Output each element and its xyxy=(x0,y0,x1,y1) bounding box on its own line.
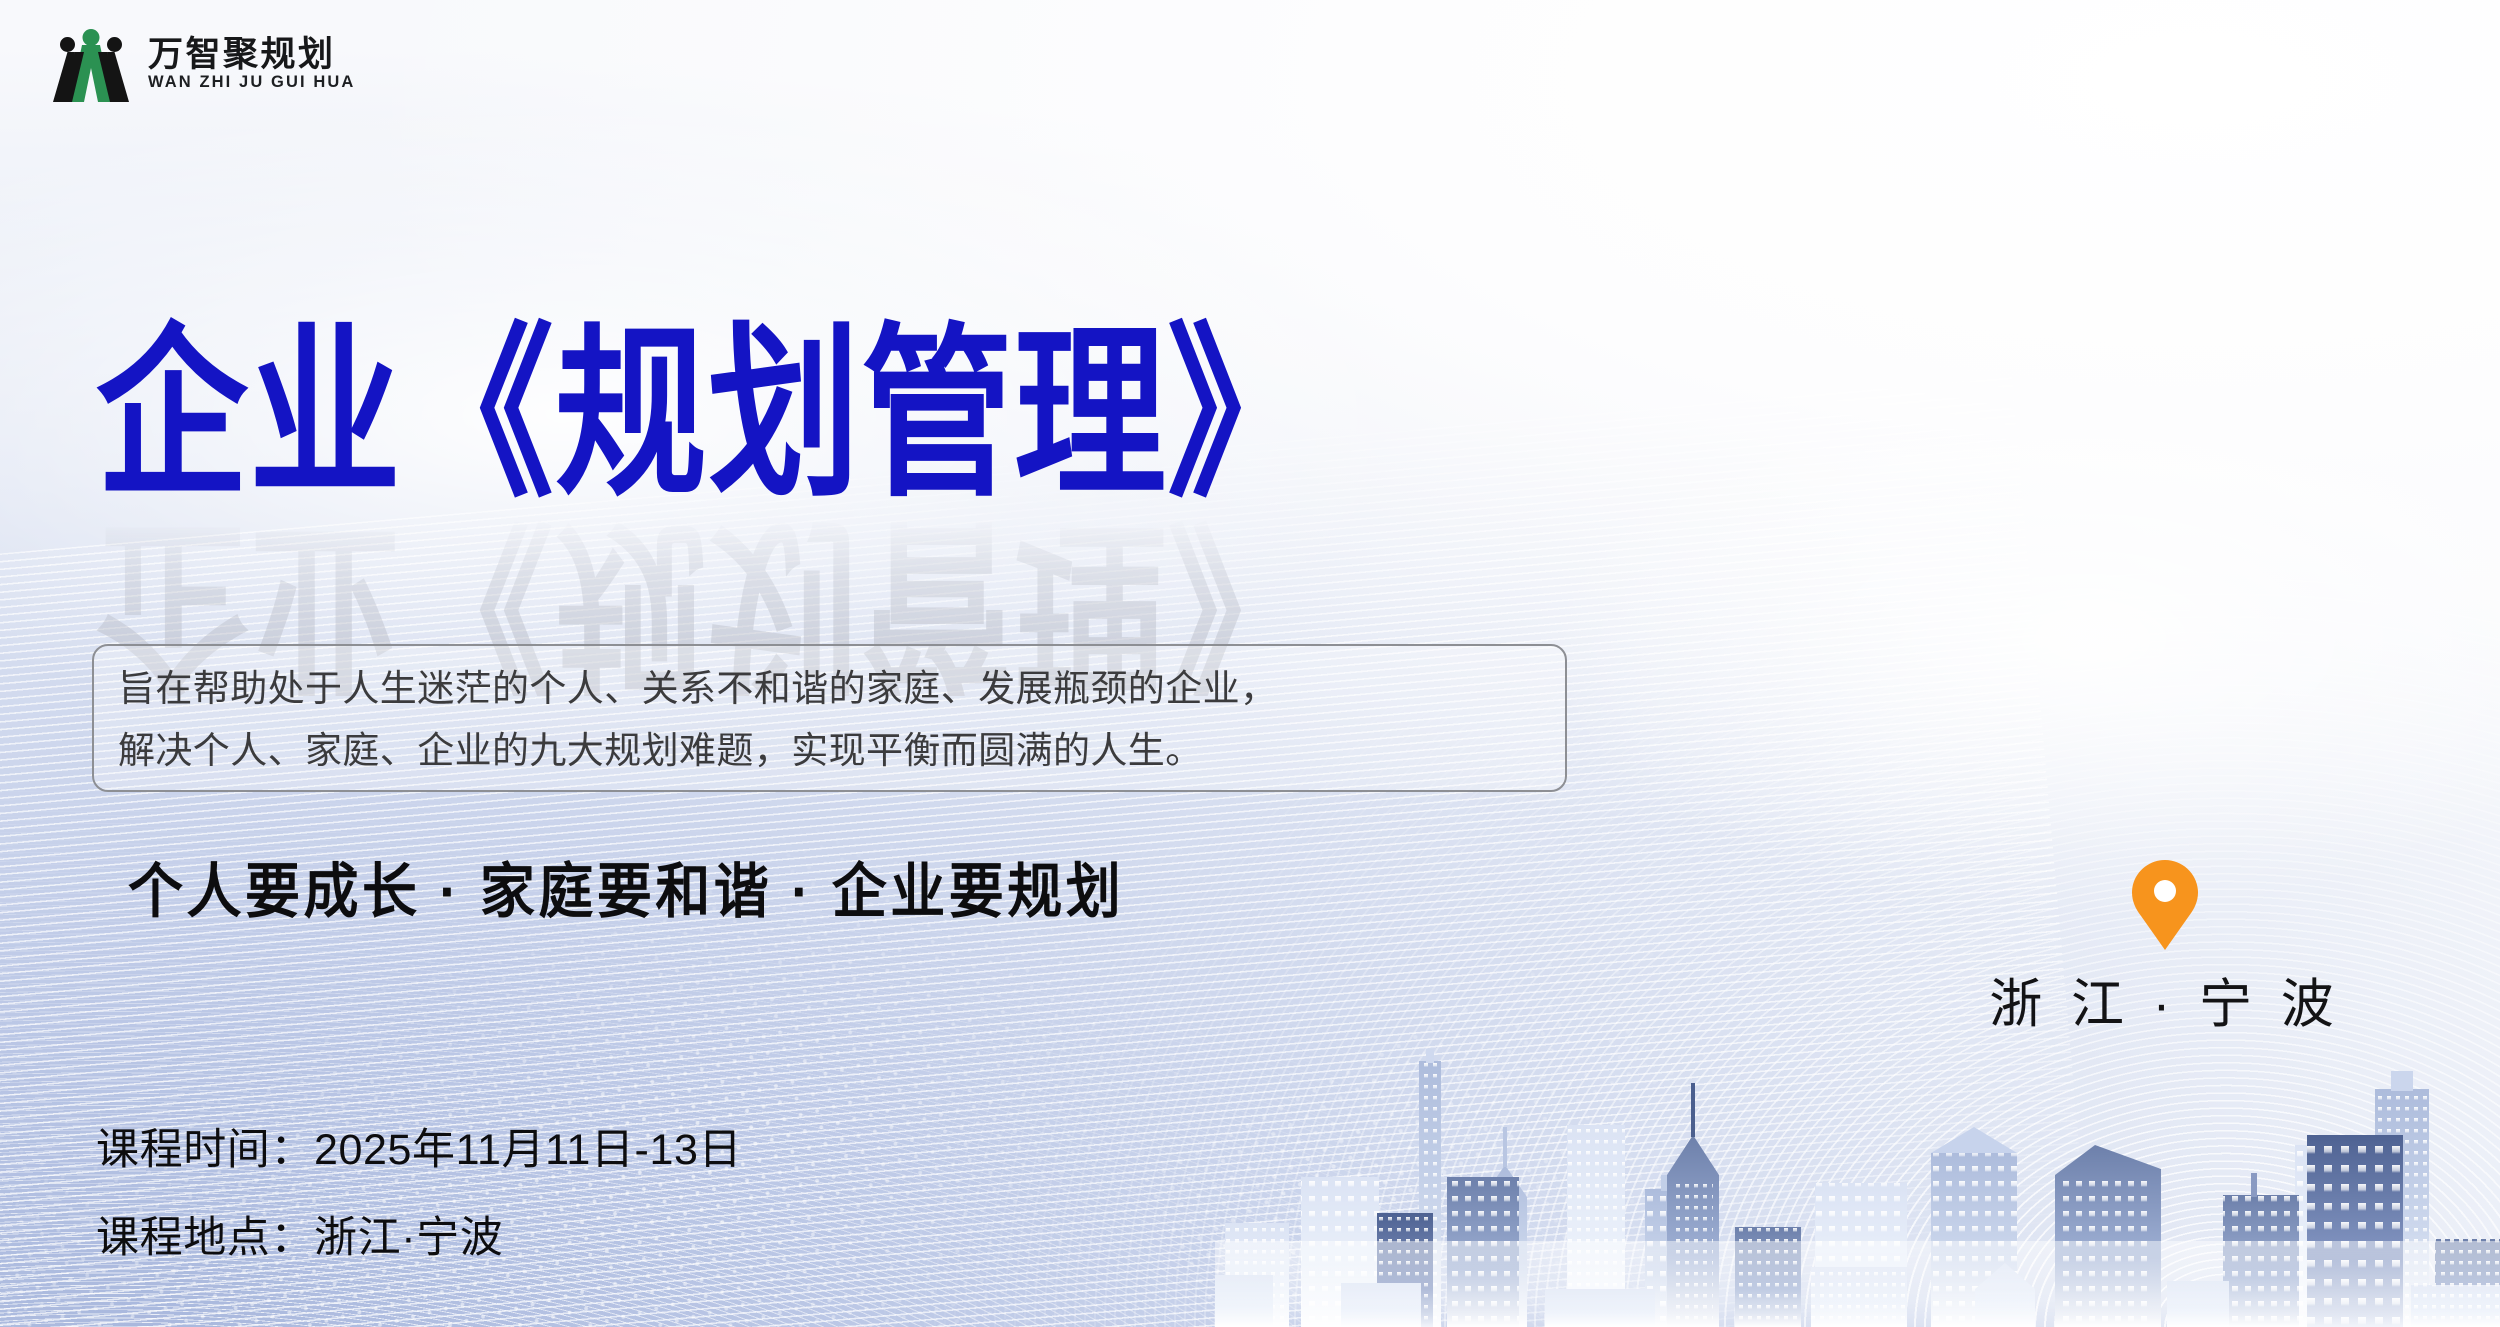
location-label: 浙 江 · 宁 波 xyxy=(1989,962,2341,1038)
brand-name-en: WAN ZHI JU GUI HUA xyxy=(148,74,355,91)
map-pin-icon xyxy=(2132,860,2198,950)
poster-canvas: 万智聚规划 WAN ZHI JU GUI HUA 企业《规划管理》 企业《规划管… xyxy=(0,0,2500,1327)
brand-wordmark: 万智聚规划 WAN ZHI JU GUI HUA xyxy=(148,37,355,91)
page-title: 企业《规划管理》 xyxy=(96,322,1656,507)
headline-block: 企业《规划管理》 企业《规划管理》 xyxy=(96,322,1656,622)
description-line-1: 旨在帮助处于人生迷茫的个人、关系不和谐的家庭、发展瓶颈的企业， xyxy=(118,658,1543,720)
brand-logo[interactable]: 万智聚规划 WAN ZHI JU GUI HUA xyxy=(48,22,355,106)
city-skyline-silhouette xyxy=(1215,1027,2500,1327)
description-box: 旨在帮助处于人生迷茫的个人、关系不和谐的家庭、发展瓶颈的企业， 解决个人、家庭、… xyxy=(92,644,1567,792)
course-time: 课程时间：2025年11月11日-13日 xyxy=(96,1115,742,1177)
brand-name-cn: 万智聚规划 xyxy=(148,37,355,72)
location-badge: 浙 江 · 宁 波 xyxy=(1955,860,2375,1038)
three-people-mountain-logo-icon xyxy=(48,22,134,106)
halftone-dot-pattern xyxy=(1134,753,2126,1327)
description-line-2: 解决个人、家庭、企业的九大规划难题，实现平衡而圆满的人生。 xyxy=(118,720,1543,782)
course-place: 课程地点：浙江·宁波 xyxy=(96,1203,742,1265)
slogan-text: 个人要成长 · 家庭要和谐 · 企业要规划 xyxy=(128,843,1124,929)
course-meta: 课程时间：2025年11月11日-13日 课程地点：浙江·宁波 xyxy=(96,1115,742,1265)
